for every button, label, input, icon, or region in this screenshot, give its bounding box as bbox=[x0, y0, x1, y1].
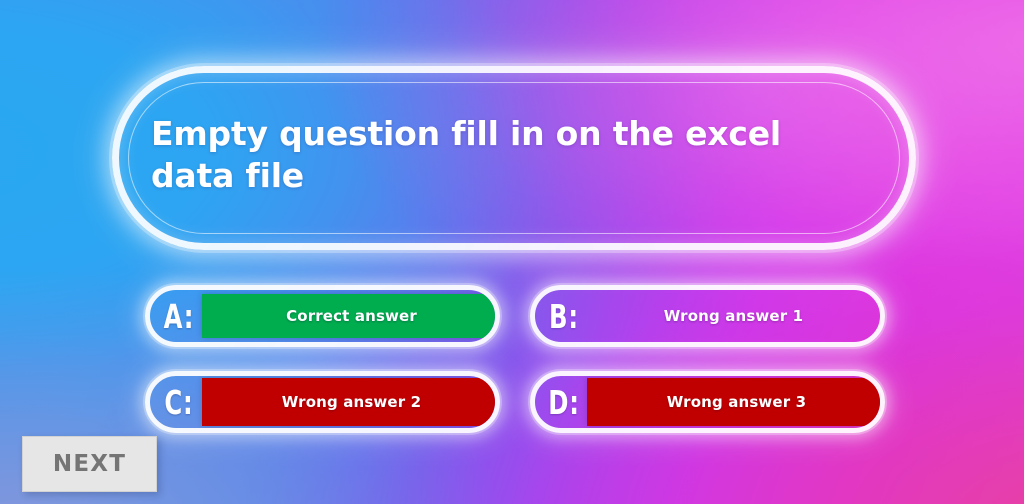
answer-option-d[interactable]: D: Wrong answer 3 bbox=[530, 371, 885, 433]
next-button-label: NEXT bbox=[53, 451, 126, 477]
answer-option-a[interactable]: A: Correct answer bbox=[145, 285, 500, 347]
answer-text-b: Wrong answer 1 bbox=[664, 307, 804, 325]
answer-letter-c: C: bbox=[160, 386, 198, 419]
answer-letter-a: A: bbox=[160, 300, 198, 333]
answer-fill-b: Wrong answer 1 bbox=[587, 296, 880, 336]
next-button[interactable]: NEXT bbox=[22, 436, 157, 492]
quiz-slide: Empty question fill in on the excel data… bbox=[0, 0, 1024, 504]
answer-fill-d: Wrong answer 3 bbox=[587, 378, 885, 426]
question-text: Empty question fill in on the excel data… bbox=[119, 113, 909, 197]
answer-options-grid: A: Correct answer B: Wrong answer 1 C: W… bbox=[145, 285, 885, 433]
answer-text-d: Wrong answer 3 bbox=[667, 393, 807, 411]
answer-text-a: Correct answer bbox=[286, 307, 417, 325]
answer-fill-c: Wrong answer 2 bbox=[202, 378, 500, 426]
answer-option-b[interactable]: B: Wrong answer 1 bbox=[530, 285, 885, 347]
answer-text-c: Wrong answer 2 bbox=[282, 393, 422, 411]
answer-letter-b: B: bbox=[545, 300, 583, 333]
answer-option-c[interactable]: C: Wrong answer 2 bbox=[145, 371, 500, 433]
question-panel: Empty question fill in on the excel data… bbox=[112, 66, 916, 250]
answer-fill-a: Correct answer bbox=[202, 294, 500, 338]
answer-letter-d: D: bbox=[545, 386, 583, 419]
